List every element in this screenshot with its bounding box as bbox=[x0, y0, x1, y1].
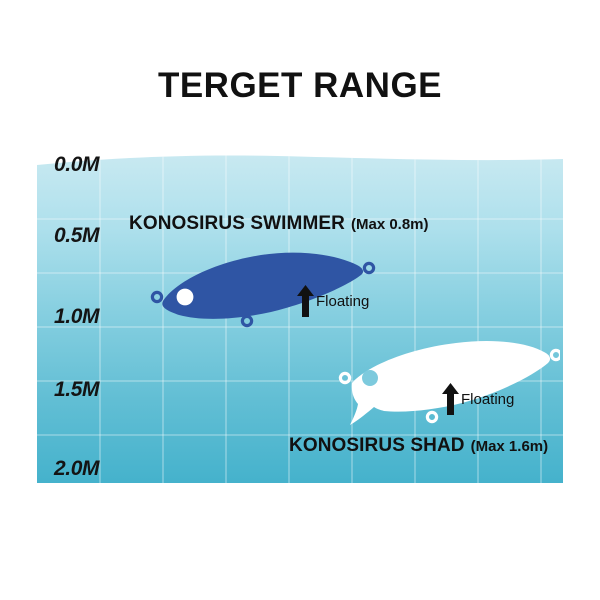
lure-name-text: KONOSIRUS SHAD bbox=[289, 435, 465, 456]
floating-note-shad: Floating bbox=[442, 383, 514, 415]
depth-tick-0-0m: 0.0M bbox=[54, 153, 99, 177]
lure-label-konosirus-swimmer: KONOSIRUS SWIMMER(Max 0.8m) bbox=[129, 213, 429, 235]
depth-chart-panel: KONOSIRUS SWIMMER(Max 0.8m) Floating bbox=[37, 111, 563, 483]
lure-label-konosirus-shad: KONOSIRUS SHAD(Max 1.6m) bbox=[289, 435, 548, 457]
lure-konosirus-shad-artwork bbox=[310, 333, 560, 429]
floating-note-swimmer: Floating bbox=[297, 285, 369, 317]
diagram-root: TERGET RANGE bbox=[0, 0, 600, 600]
floating-label-text: Floating bbox=[461, 392, 514, 407]
depth-tick-0-5m: 0.5M bbox=[54, 224, 99, 248]
floating-label-text: Floating bbox=[316, 294, 369, 309]
up-arrow-icon bbox=[297, 285, 314, 317]
page-title: TERGET RANGE bbox=[0, 66, 600, 106]
lure-max-depth-text: (Max 1.6m) bbox=[471, 438, 549, 455]
depth-tick-1-5m: 1.5M bbox=[54, 378, 99, 402]
lure-max-depth-text: (Max 0.8m) bbox=[351, 216, 429, 233]
up-arrow-icon bbox=[442, 383, 459, 415]
shad-lure-icon bbox=[310, 333, 560, 429]
lure-name-text: KONOSIRUS SWIMMER bbox=[129, 213, 345, 234]
depth-tick-1-0m: 1.0M bbox=[54, 305, 99, 329]
depth-tick-2-0m: 2.0M bbox=[54, 457, 99, 481]
